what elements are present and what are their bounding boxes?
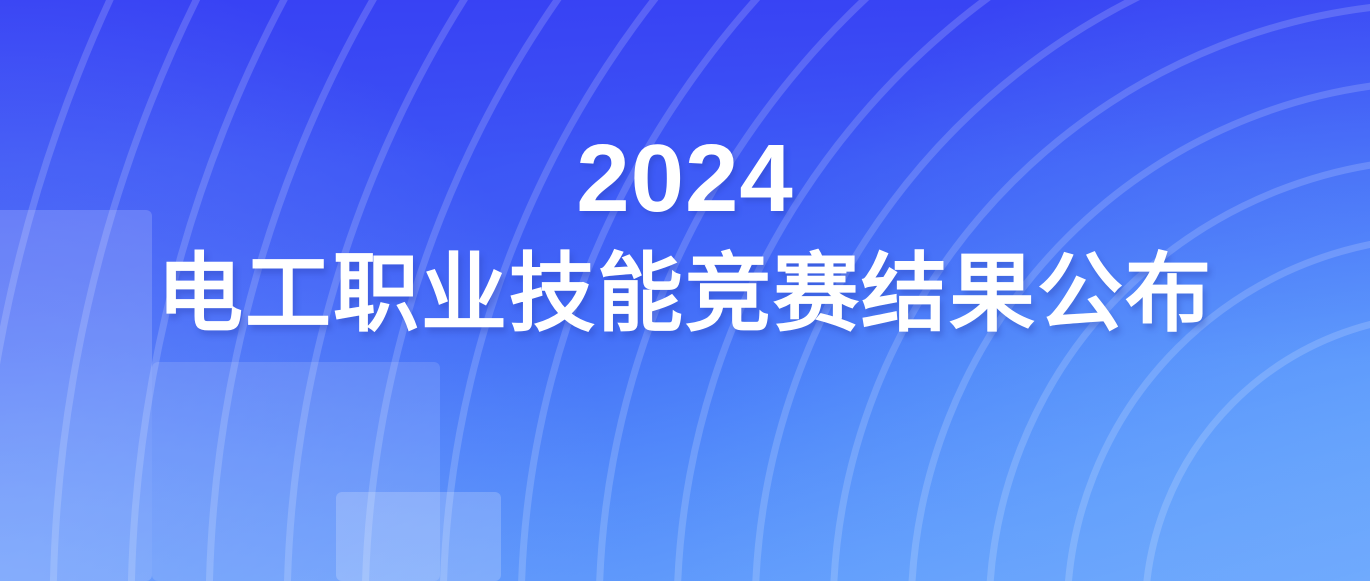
promo-banner: 2024 电工职业技能竞赛结果公布	[0, 0, 1370, 581]
banner-year: 2024	[576, 131, 794, 227]
banner-text-block: 2024 电工职业技能竞赛结果公布	[0, 0, 1370, 581]
banner-headline: 电工职业技能竞赛结果公布	[157, 249, 1213, 339]
